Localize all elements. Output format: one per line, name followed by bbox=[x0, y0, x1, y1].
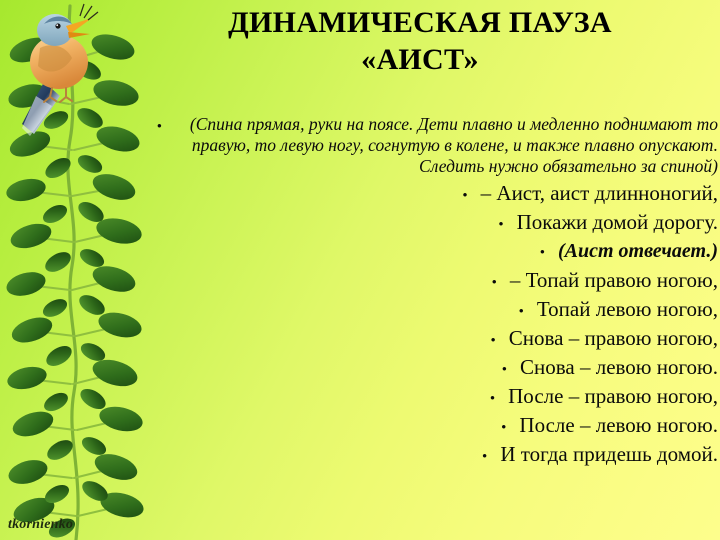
poem-line-text: Топай левою ногою, bbox=[537, 295, 718, 324]
bird-beak bbox=[66, 18, 92, 34]
bullet-icon: • bbox=[501, 421, 506, 436]
slide-title: ДИНАМИЧЕСКАЯ ПАУЗА «АИСТ» bbox=[130, 4, 710, 78]
list-item-poem-2: • Покажи домой дорогу. bbox=[122, 208, 718, 237]
vine-stem bbox=[68, 6, 78, 540]
list-item-poem-4: • – Топай правою ногою, bbox=[122, 266, 718, 295]
list-item-poem-7: • Снова – левою ногою. bbox=[122, 353, 718, 382]
slide-body-list: • (Спина прямая, руки на поясе. Дети пла… bbox=[122, 114, 718, 469]
poem-line-text: Снова – правою ногою, bbox=[509, 324, 718, 353]
title-line-1: ДИНАМИЧЕСКАЯ ПАУЗА bbox=[130, 4, 710, 41]
bird-head bbox=[37, 14, 73, 46]
bird-feet bbox=[44, 88, 72, 102]
poem-line-text: (Аист отвечает.) bbox=[558, 237, 718, 266]
vine-branchlets bbox=[36, 50, 112, 516]
author-watermark: tkornienko bbox=[8, 517, 73, 533]
poem-line-text: – Топай правою ногою, bbox=[510, 266, 718, 295]
list-item-poem-9: • После – левою ногою. bbox=[122, 411, 718, 440]
bird-eye bbox=[55, 23, 60, 28]
bullet-icon: • bbox=[498, 218, 503, 233]
bullet-icon: • bbox=[462, 189, 467, 204]
list-item-poem-10: • И тогда придешь домой. bbox=[122, 440, 718, 469]
list-item-poem-6: • Снова – правою ногою, bbox=[122, 324, 718, 353]
list-item-poem-1: • – Аист, аист длинноногий, bbox=[122, 179, 718, 208]
list-item-poem-8: • После – правою ногою, bbox=[122, 382, 718, 411]
instruction-text: (Спина прямая, руки на поясе. Дети плавн… bbox=[175, 114, 718, 177]
poem-line-text: После – левою ногою. bbox=[519, 411, 718, 440]
bullet-icon: • bbox=[157, 120, 162, 135]
bullet-icon: • bbox=[540, 246, 545, 261]
bullet-icon: • bbox=[482, 450, 487, 465]
title-line-2: «АИСТ» bbox=[130, 41, 710, 78]
poem-line-text: Покажи домой дорогу. bbox=[517, 208, 718, 237]
bullet-icon: • bbox=[492, 276, 497, 291]
poem-line-text: Снова – левою ногою. bbox=[520, 353, 718, 382]
bullet-icon: • bbox=[519, 305, 524, 320]
bullet-icon: • bbox=[502, 363, 507, 378]
list-item-instruction: • (Спина прямая, руки на поясе. Дети пла… bbox=[122, 114, 718, 177]
bird-bristles bbox=[80, 4, 98, 20]
poem-line-text: После – правою ногою, bbox=[508, 382, 718, 411]
bird-body bbox=[30, 35, 88, 89]
list-item-poem-5: • Топай левою ногою, bbox=[122, 295, 718, 324]
list-item-poem-3: • (Аист отвечает.) bbox=[122, 237, 718, 266]
presentation-slide: ДИНАМИЧЕСКАЯ ПАУЗА «АИСТ» • (Спина пряма… bbox=[0, 0, 720, 540]
bird-wing bbox=[38, 45, 72, 71]
poem-line-text: И тогда придешь домой. bbox=[500, 440, 718, 469]
bullet-icon: • bbox=[490, 334, 495, 349]
bird-tail bbox=[22, 82, 60, 134]
bird-illustration bbox=[22, 4, 98, 136]
poem-line-text: – Аист, аист длинноногий, bbox=[481, 179, 718, 208]
bullet-icon: • bbox=[490, 392, 495, 407]
